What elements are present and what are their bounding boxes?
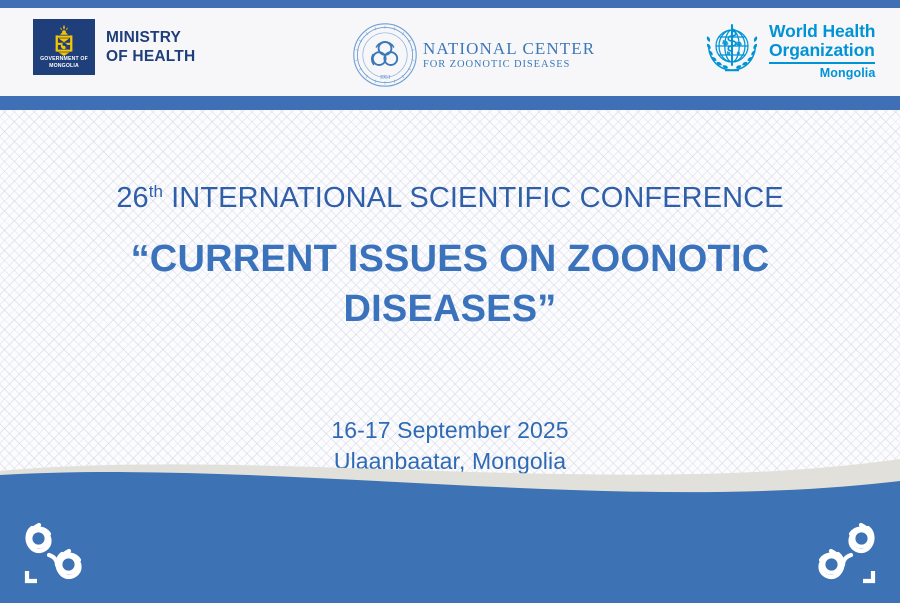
mongolia-state-emblem: GOVERNMENT OF MONGOLIA — [33, 19, 95, 75]
triquetra-seal-icon: 1951 — [352, 22, 418, 88]
ministry-of-health-logo: GOVERNMENT OF MONGOLIA MINISTRY OF HEALT… — [33, 19, 195, 75]
conference-theme-line-1: “CURRENT ISSUES ON ZOONOTIC — [0, 234, 900, 284]
emblem-government-label: GOVERNMENT OF — [33, 56, 95, 62]
who-rod-of-asclepius-globe-laurel-icon — [701, 20, 763, 78]
top-accent-bar — [0, 0, 900, 8]
mongolia-soyombo-emblem-icon — [47, 23, 81, 57]
conference-heading-text: INTERNATIONAL SCIENTIFIC CONFERENCE — [171, 182, 784, 214]
header-accent-bar — [0, 96, 900, 110]
headline-block: 26th INTERNATIONAL SCIENTIFIC CONFERENCE… — [0, 172, 900, 334]
ministry-name-block: MINISTRY OF HEALTH — [106, 28, 195, 66]
ministry-name-line-1: MINISTRY — [106, 28, 195, 47]
conference-theme-line-2: DISEASES” — [0, 284, 900, 334]
mongolian-triquetra-knot-icon-left — [13, 513, 99, 593]
who-name-block: World Health Organization Mongolia — [769, 22, 875, 80]
emblem-country-label: MONGOLIA — [33, 63, 95, 69]
who-name-line-1: World Health — [769, 22, 875, 41]
who-divider — [769, 62, 875, 64]
national-center-line-2: FOR ZOONOTIC DISEASES — [423, 59, 595, 70]
wave-blue-layer — [0, 472, 900, 603]
conference-heading: 26th INTERNATIONAL SCIENTIFIC CONFERENCE — [0, 172, 900, 218]
event-date: 16-17 September 2025 — [0, 415, 900, 446]
who-name-line-2: Organization — [769, 41, 875, 60]
national-center-name-block: NATIONAL CENTER FOR ZOONOTIC DISEASES — [423, 40, 595, 71]
conference-number: 26 — [116, 182, 148, 214]
who-mongolia-logo: World Health Organization Mongolia — [701, 20, 875, 80]
national-center-line-1: NATIONAL CENTER — [423, 40, 595, 58]
conference-title-slide: GOVERNMENT OF MONGOLIA MINISTRY OF HEALT… — [0, 0, 900, 603]
national-center-zoonotic-diseases-logo: 1951 NATIONAL CENTER FOR ZOONOTIC DISEAS… — [352, 22, 595, 88]
seal-year: 1951 — [380, 75, 391, 81]
ministry-name-line-2: OF HEALTH — [106, 47, 195, 66]
who-country-label: Mongolia — [769, 66, 875, 80]
conference-ordinal: th — [149, 182, 163, 201]
mongolian-triquetra-knot-icon-right — [801, 513, 887, 593]
bottom-wave-decoration — [0, 453, 900, 603]
